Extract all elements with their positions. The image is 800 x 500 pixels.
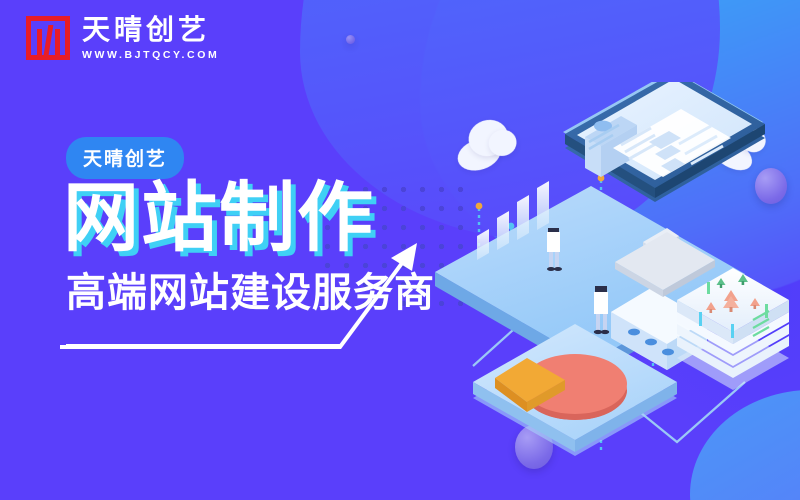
growth-arrow-icon	[60, 235, 460, 365]
node-dot	[476, 203, 483, 210]
desktop-monitor-icon	[555, 82, 715, 257]
logo-mark-icon	[26, 16, 70, 60]
logo-text: 天晴创艺 WWW.BJTQCY.COM	[82, 16, 219, 61]
brand-logo[interactable]: 天晴创艺 WWW.BJTQCY.COM	[26, 16, 219, 61]
isometric-illustration	[415, 60, 800, 500]
logo-website-url: WWW.BJTQCY.COM	[82, 50, 219, 61]
logo-company-name: 天晴创艺	[82, 16, 219, 44]
promo-banner: 天晴创艺 WWW.BJTQCY.COM 天晴创艺 网站制作 高端网站建设服务商	[0, 0, 800, 500]
sphere-icon	[346, 35, 355, 44]
